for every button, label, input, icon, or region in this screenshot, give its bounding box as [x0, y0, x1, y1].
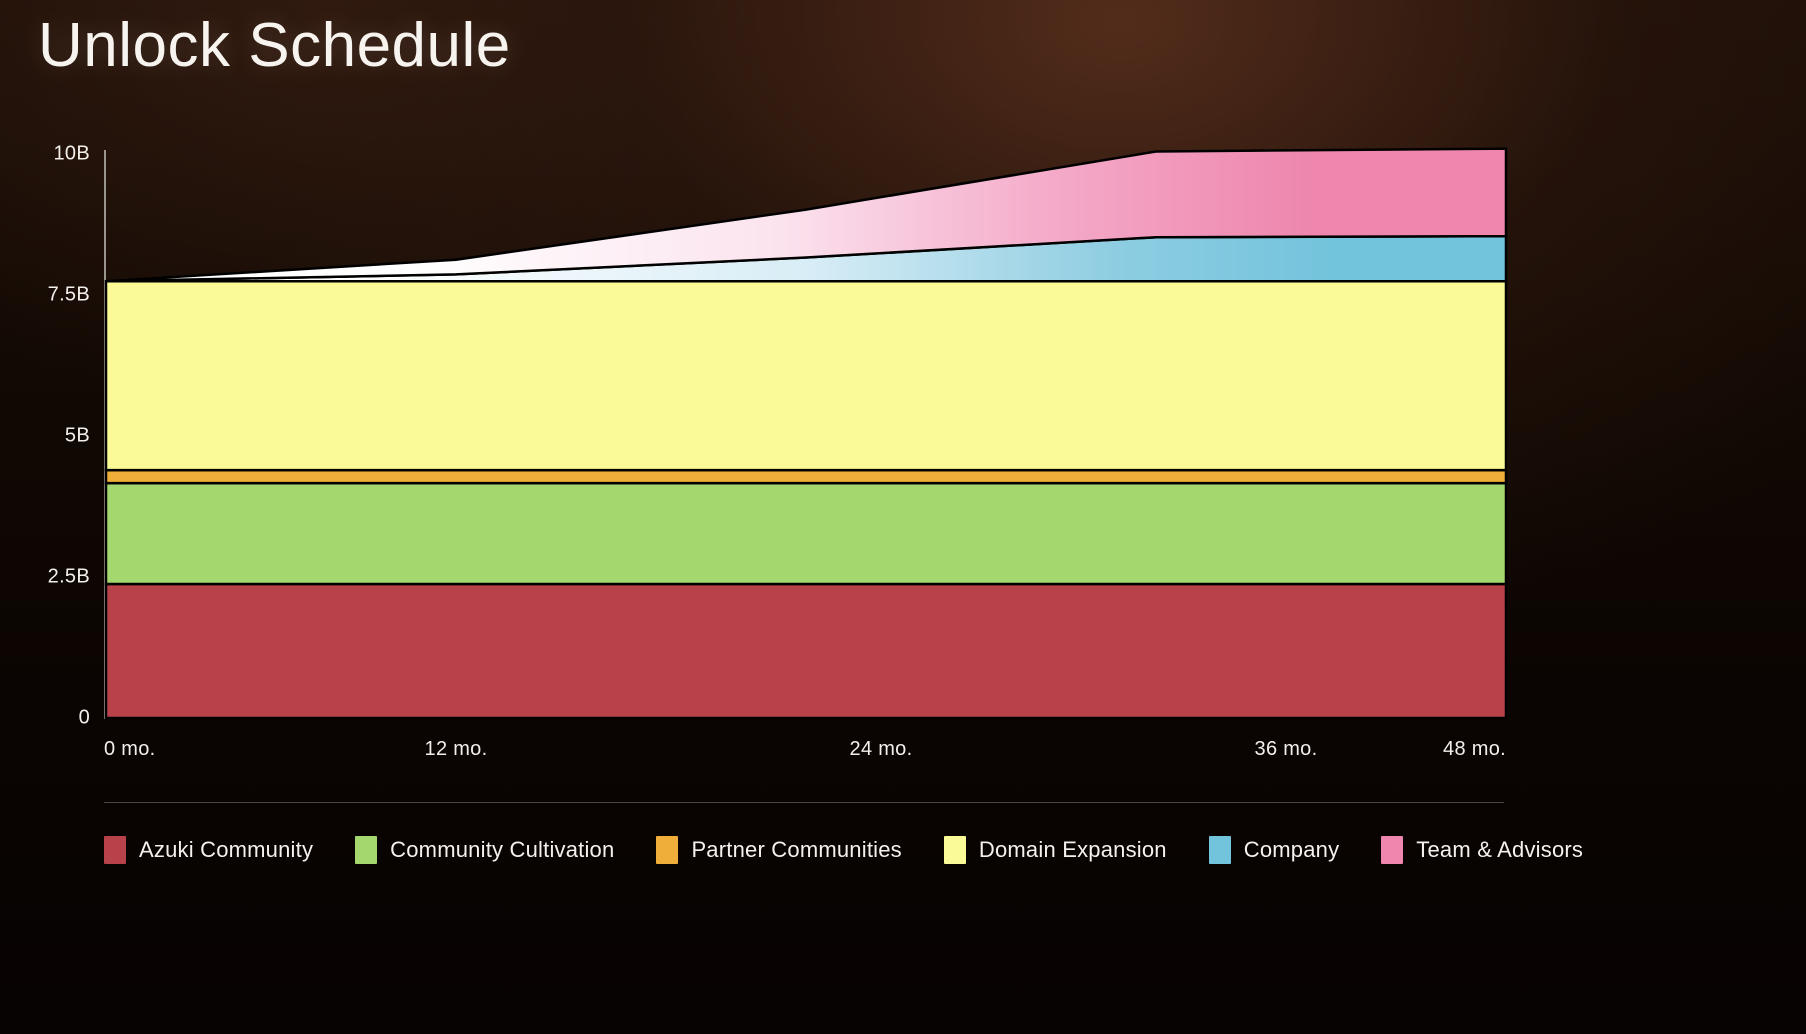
- chart-legend: Azuki Community Community Cultivation Pa…: [104, 828, 1564, 872]
- legend-item-community-cultivation[interactable]: Community Cultivation: [355, 836, 614, 864]
- stacked-area-plot: [0, 0, 1806, 1034]
- x-tick-0-mo: 0 mo.: [104, 738, 156, 761]
- x-tick-24-mo: 24 mo.: [850, 738, 913, 761]
- area-azuki-community: [106, 584, 1506, 718]
- x-tick-36-mo: 36 mo.: [1255, 738, 1318, 761]
- legend-item-company[interactable]: Company: [1209, 836, 1340, 864]
- area-domain-expansion: [106, 281, 1506, 470]
- x-tick-48-mo: 48 mo.: [1443, 738, 1506, 761]
- legend-swatch-icon: [656, 836, 678, 864]
- legend-label: Company: [1244, 837, 1340, 863]
- legend-swatch-icon: [944, 836, 966, 864]
- legend-item-azuki-community[interactable]: Azuki Community: [104, 836, 313, 864]
- legend-swatch-icon: [1209, 836, 1231, 864]
- legend-item-domain-expansion[interactable]: Domain Expansion: [944, 836, 1167, 864]
- legend-item-partner-communities[interactable]: Partner Communities: [656, 836, 901, 864]
- area-community-cultivation: [106, 483, 1506, 584]
- legend-swatch-icon: [104, 836, 126, 864]
- y-tick-7-5b: 7.5B: [48, 284, 90, 307]
- unlock-schedule-page: Unlock Schedule: [0, 0, 1806, 1034]
- legend-item-team-advisors[interactable]: Team & Advisors: [1381, 836, 1583, 864]
- legend-label: Team & Advisors: [1416, 837, 1583, 863]
- y-tick-0: 0: [79, 707, 90, 730]
- y-axis-labels: 10B 7.5B 5B 2.5B 0: [0, 0, 90, 1034]
- y-tick-2-5b: 2.5B: [48, 566, 90, 589]
- legend-label: Domain Expansion: [979, 837, 1167, 863]
- legend-swatch-icon: [1381, 836, 1403, 864]
- y-tick-10b: 10B: [54, 143, 91, 166]
- area-bands: [106, 149, 1506, 718]
- legend-swatch-icon: [355, 836, 377, 864]
- x-tick-12-mo: 12 mo.: [425, 738, 488, 761]
- legend-label: Partner Communities: [691, 837, 901, 863]
- legend-divider: [104, 802, 1504, 803]
- y-tick-5b: 5B: [65, 425, 90, 448]
- legend-label: Community Cultivation: [390, 837, 614, 863]
- unlock-schedule-chart: 10B 7.5B 5B 2.5B 0 0 mo. 12 mo. 24 mo. 3…: [0, 0, 1806, 1034]
- legend-label: Azuki Community: [139, 837, 313, 863]
- area-partner-communities: [106, 470, 1506, 483]
